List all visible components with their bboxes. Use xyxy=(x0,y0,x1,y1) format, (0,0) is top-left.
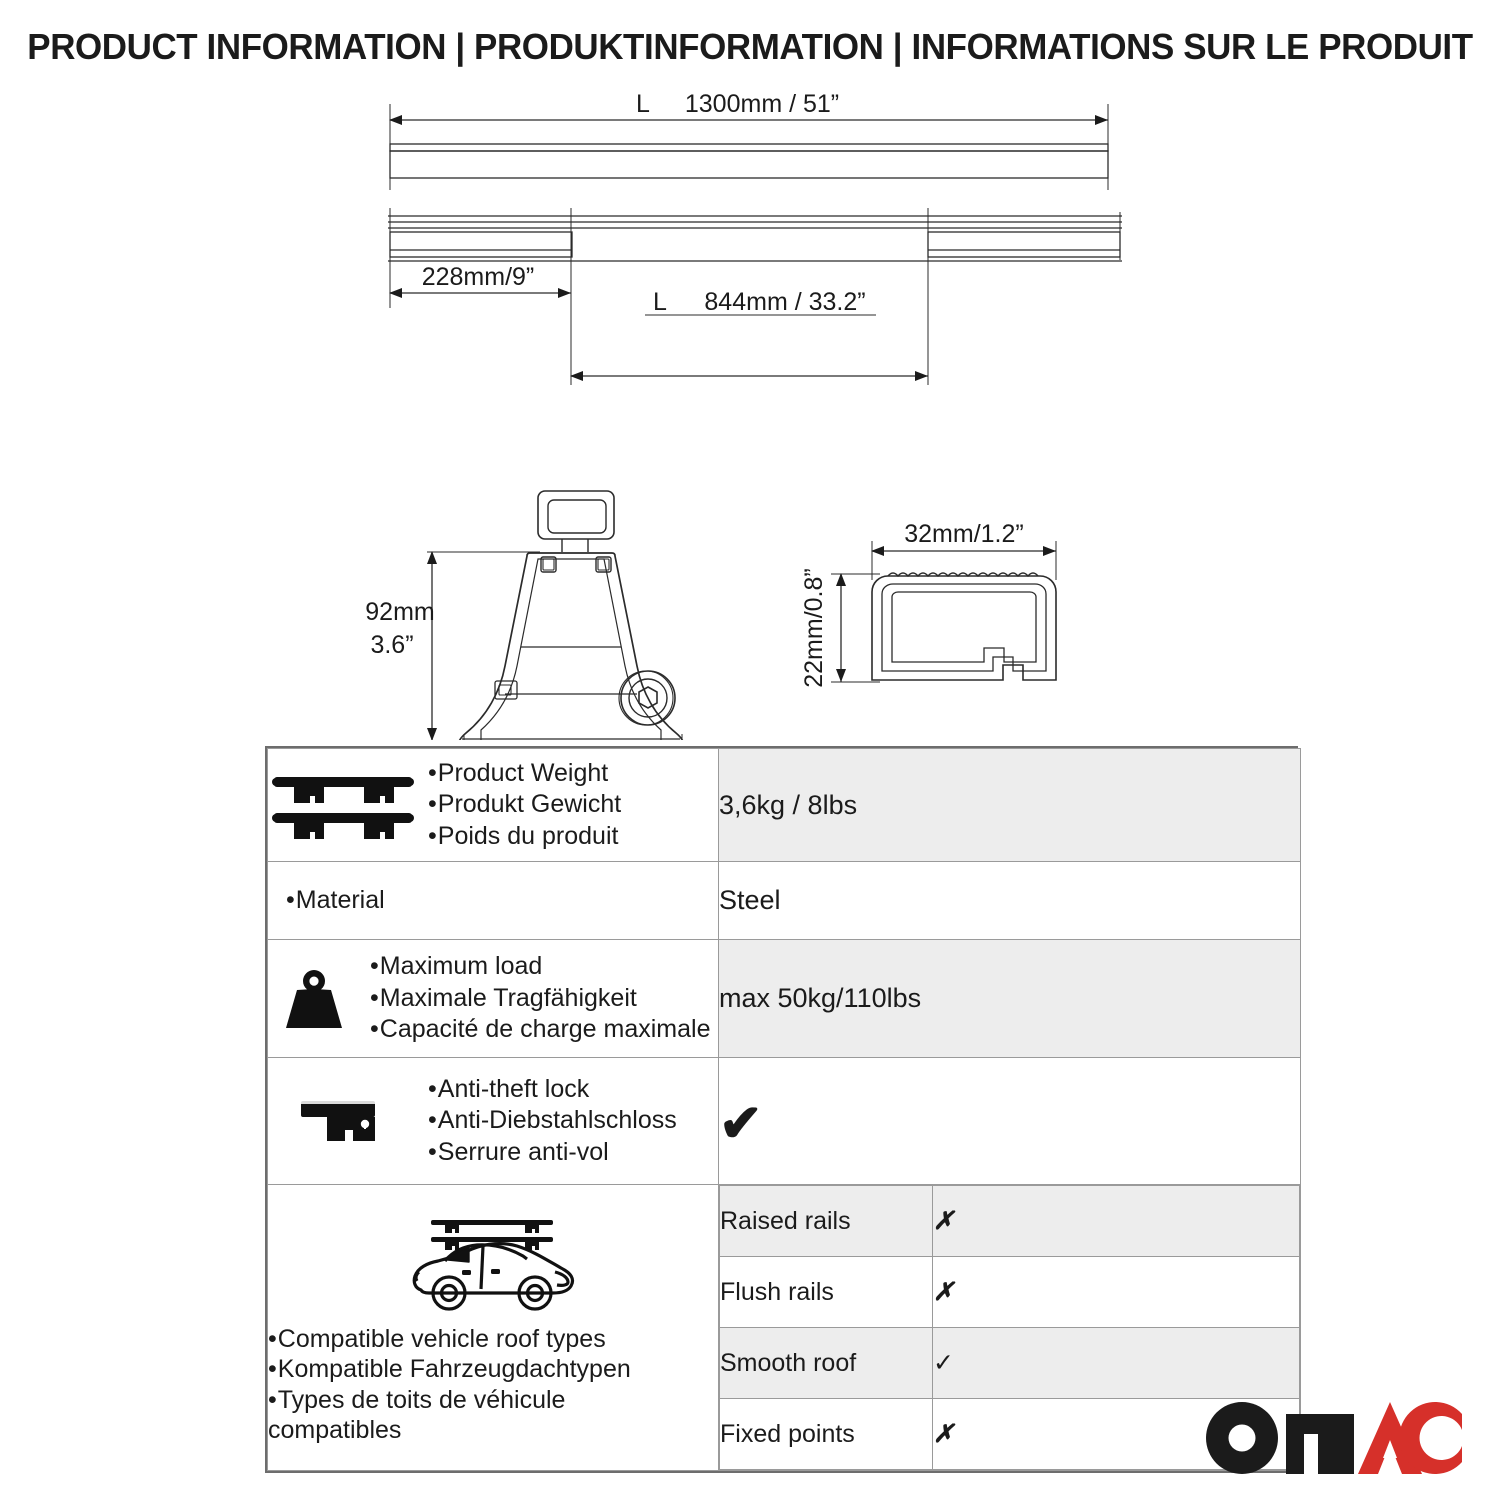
roof-type-name: Flush rails xyxy=(720,1257,933,1328)
lock-icon xyxy=(268,1093,418,1149)
profile-width-value: 32mm/1.2” xyxy=(904,520,1023,548)
product-weight-labels: Product Weight Produkt Gewicht Poids du … xyxy=(428,758,621,853)
product-weight-label-cell: Product Weight Produkt Gewicht Poids du … xyxy=(268,749,719,862)
roof-type-name: Smooth roof xyxy=(720,1328,933,1399)
anti-theft-value: ✔ xyxy=(719,1058,1301,1185)
compatibility-label-cell: Compatible vehicle roof types Kompatible… xyxy=(268,1185,719,1471)
roof-type-row: Smooth roof ✓ xyxy=(720,1328,1300,1399)
omac-logo xyxy=(1204,1404,1466,1476)
specification-table: Product Weight Produkt Gewicht Poids du … xyxy=(265,746,1298,1473)
bar-length-prefix: L xyxy=(636,90,650,118)
table-row: Compatible vehicle roof types Kompatible… xyxy=(268,1185,1301,1471)
material-value: Steel xyxy=(719,862,1301,940)
end-offset-value: 228mm/9” xyxy=(422,263,535,291)
table-row: Material Steel xyxy=(268,862,1301,940)
roof-type-mark: ✗ xyxy=(933,1257,1300,1328)
anti-theft-labels: Anti-theft lock Anti-Diebstahlschloss Se… xyxy=(428,1074,677,1169)
roof-type-row: Raised rails ✗ xyxy=(720,1186,1300,1257)
span-prefix: L xyxy=(653,288,667,316)
bar-length-value: 1300mm / 51” xyxy=(685,90,839,118)
label-en: Compatible vehicle roof types xyxy=(268,1324,718,1355)
material-label-cell: Material xyxy=(268,862,719,940)
table-row: Product Weight Produkt Gewicht Poids du … xyxy=(268,749,1301,862)
roof-type-name: Fixed points xyxy=(720,1399,933,1470)
label-de: Maximale Tragfähigkeit xyxy=(370,983,711,1015)
omac-logo-mark xyxy=(1204,1400,1466,1476)
table-row: Anti-theft lock Anti-Diebstahlschloss Se… xyxy=(268,1058,1301,1185)
page-title: PRODUCT INFORMATION | PRODUKTINFORMATION… xyxy=(23,26,1478,68)
profile-height-value: 22mm/0.8” xyxy=(800,568,828,687)
label-fr: Serrure anti-vol xyxy=(428,1137,677,1169)
label-en: Material xyxy=(286,885,385,917)
label-de: Anti-Diebstahlschloss xyxy=(428,1105,677,1137)
label-en: Product Weight xyxy=(428,758,621,790)
roof-bars-icon xyxy=(268,769,418,841)
max-load-label-cell: Maximum load Maximale Tragfähigkeit Capa… xyxy=(268,940,719,1058)
compatibility-labels: Compatible vehicle roof types Kompatible… xyxy=(268,1324,718,1446)
label-fr-cont: compatibles xyxy=(268,1415,718,1446)
car-with-roof-rack-icon xyxy=(268,1210,718,1316)
label-fr: Types de toits de véhicule xyxy=(268,1385,718,1416)
label-en: Maximum load xyxy=(370,951,711,983)
material-labels: Material xyxy=(286,885,385,917)
weight-icon xyxy=(268,966,360,1032)
label-fr: Poids du produit xyxy=(428,821,621,853)
roof-type-mark: ✗ xyxy=(933,1186,1300,1257)
label-en: Anti-theft lock xyxy=(428,1074,677,1106)
max-load-labels: Maximum load Maximale Tragfähigkeit Capa… xyxy=(370,951,711,1046)
roof-type-mark: ✓ xyxy=(933,1328,1300,1399)
label-de: Kompatible Fahrzeugdachtypen xyxy=(268,1354,718,1385)
max-load-value: max 50kg/110lbs xyxy=(719,940,1301,1058)
label-de: Produkt Gewicht xyxy=(428,789,621,821)
product-weight-value: 3,6kg / 8lbs xyxy=(719,749,1301,862)
label-fr: Capacité de charge maximale xyxy=(370,1014,711,1046)
span-value: 844mm / 33.2” xyxy=(704,288,865,316)
table-row: Maximum load Maximale Tragfähigkeit Capa… xyxy=(268,940,1301,1058)
foot-height-line2: 3.6” xyxy=(370,631,413,659)
roof-type-row: Flush rails ✗ xyxy=(720,1257,1300,1328)
anti-theft-label-cell: Anti-theft lock Anti-Diebstahlschloss Se… xyxy=(268,1058,719,1185)
technical-drawing: L 1300mm / 51” 228mm/9” L 844mm / 33.2” … xyxy=(0,80,1500,740)
foot-height-line1: 92mm xyxy=(365,598,434,626)
roof-type-name: Raised rails xyxy=(720,1186,933,1257)
drawing-svg: L 1300mm / 51” 228mm/9” L 844mm / 33.2” … xyxy=(0,80,1500,740)
